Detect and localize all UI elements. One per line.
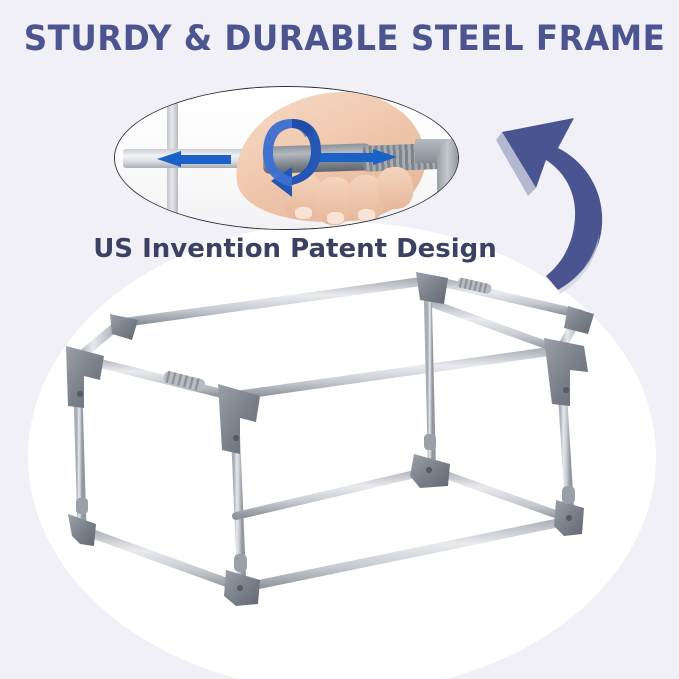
extend-left-arrow-icon — [157, 151, 231, 167]
fingernail — [327, 212, 344, 224]
inset-ellipse-frame — [114, 86, 459, 230]
patent-detail-inset — [114, 86, 459, 230]
page-title: STURDY & DURABLE STEEL FRAME — [24, 19, 655, 59]
corner-elbow-joint — [437, 139, 459, 219]
infographic-page: STURDY & DURABLE STEEL FRAME — [0, 0, 679, 679]
product-steel-frame-illustration — [60, 258, 660, 658]
fingernail — [358, 209, 375, 221]
extend-right-arrow-icon — [311, 149, 397, 165]
twist-lock-rotation-arrow-icon — [261, 111, 323, 209]
